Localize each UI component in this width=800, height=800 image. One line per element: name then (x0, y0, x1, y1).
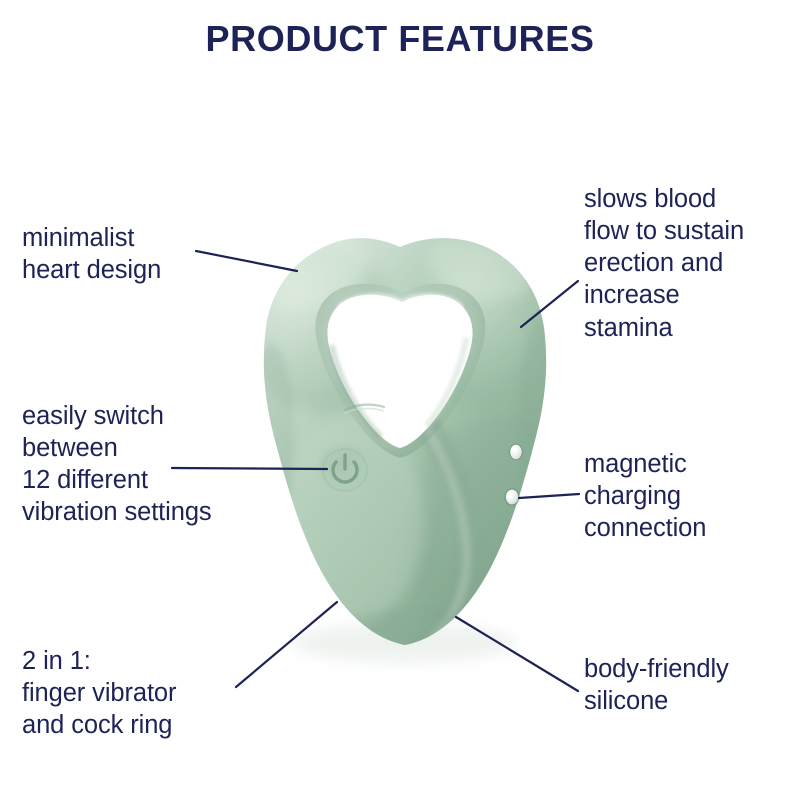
callout-easily-switch-vibration-settings: easily switch between 12 different vibra… (22, 400, 212, 529)
product-features-infographic: PRODUCT FEATURES (0, 0, 800, 800)
callout-magnetic-charging-connection: magnetic charging connection (584, 448, 706, 544)
power-button[interactable] (317, 444, 373, 496)
callout-2-in-1-finger-vibrator-cock-ring: 2 in 1: finger vibrator and cock ring (22, 645, 176, 741)
callout-body-friendly-silicone: body-friendly silicone (584, 653, 729, 717)
callout-slows-blood-flow: slows blood flow to sustain erection and… (584, 183, 744, 344)
charging-pin-upper (509, 443, 523, 460)
callout-minimalist-heart-design: minimalist heart design (22, 222, 161, 286)
charging-pin-lower (504, 488, 519, 506)
